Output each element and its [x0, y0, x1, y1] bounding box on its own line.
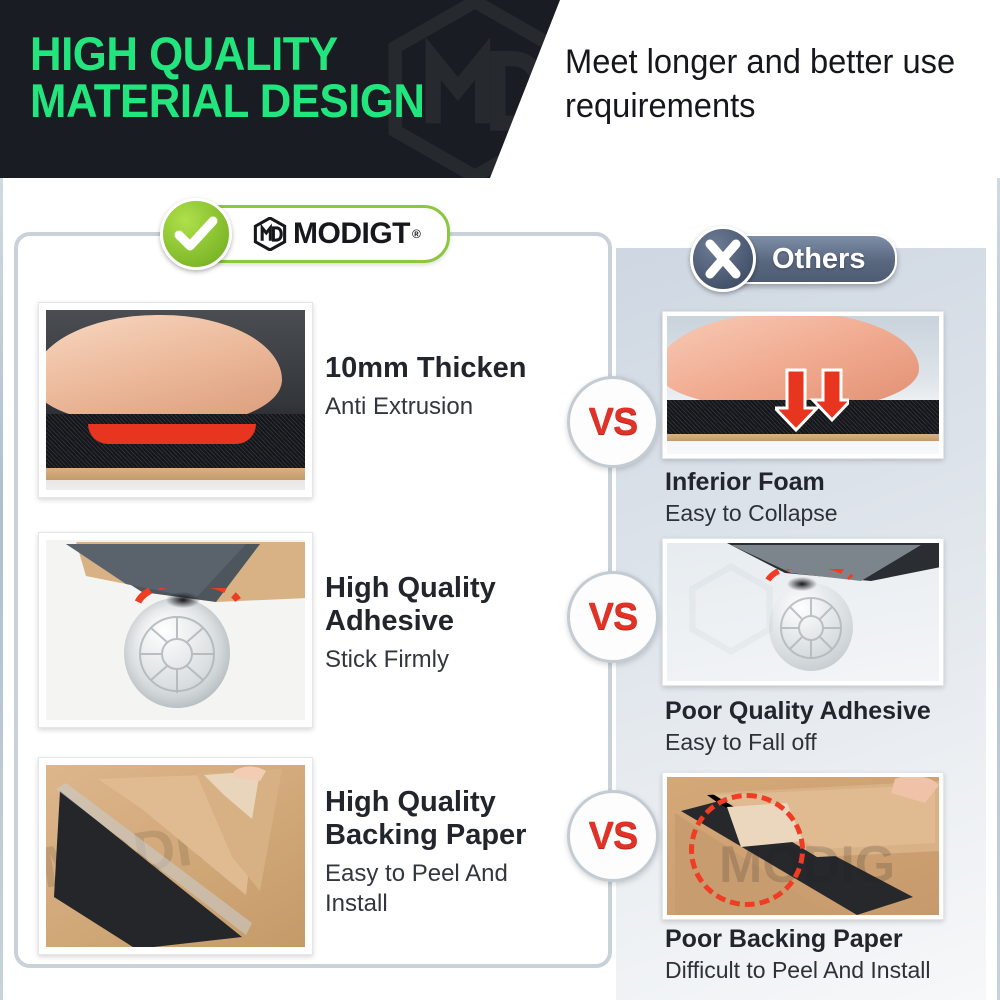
- photo-watermark-icon: [685, 563, 777, 655]
- good-feature-3-subtitle: Easy to Peel And Install: [325, 859, 575, 919]
- page-title: HIGH QUALITY MATERIAL DESIGN: [30, 30, 467, 124]
- good-photo-1: [38, 302, 313, 498]
- others-label: Others: [772, 245, 865, 274]
- good-feature-3-text: High Quality Backing Paper Easy to Peel …: [325, 786, 575, 919]
- bad-feature-3-subtitle: Difficult to Peel And Install: [665, 956, 995, 984]
- good-feature-2-subtitle: Stick Firmly: [325, 645, 565, 675]
- md-hexagon-logo-icon: [253, 217, 287, 251]
- vs-badge-3: VS: [567, 790, 659, 882]
- bad-feature-2-text: Poor Quality Adhesive Easy to Fall off: [665, 697, 985, 756]
- good-photo-3: MODIGT: [38, 757, 313, 955]
- good-feature-3-title: High Quality Backing Paper: [325, 786, 575, 852]
- vs-label-2: VS: [589, 596, 638, 639]
- bad-photo-3: MODIG: [662, 772, 944, 920]
- vs-badge-1: VS: [567, 376, 659, 468]
- vs-label-3: VS: [589, 815, 638, 858]
- vs-label-1: VS: [589, 401, 638, 444]
- good-photo-2: [38, 532, 313, 728]
- infographic-page: HIGH QUALITY MATERIAL DESIGN Meet longer…: [0, 0, 1000, 1000]
- header-banner: HIGH QUALITY MATERIAL DESIGN Meet longer…: [0, 0, 1000, 178]
- bad-photo-1: [662, 311, 944, 459]
- good-feature-2-text: High Quality Adhesive Stick Firmly: [325, 572, 565, 675]
- vs-badge-2: VS: [567, 571, 659, 663]
- trademark-symbol: ®: [412, 227, 421, 241]
- check-icon: [160, 198, 232, 270]
- good-feature-1-title: 10mm Thicken: [325, 352, 565, 385]
- defect-highlight-circle: [689, 793, 805, 907]
- bad-feature-1-text: Inferior Foam Easy to Collapse: [665, 468, 975, 527]
- left-edge-rule: [0, 178, 3, 1000]
- bad-feature-3-title: Poor Backing Paper: [665, 925, 995, 953]
- brand-name: MODIGT: [293, 219, 410, 249]
- good-feature-1-subtitle: Anti Extrusion: [325, 392, 565, 422]
- brand-badge: MODIGT ®: [160, 198, 450, 270]
- bad-photo-2: [662, 538, 944, 686]
- bad-feature-1-title: Inferior Foam: [665, 468, 975, 496]
- others-badge: Others: [690, 226, 897, 292]
- good-feature-2-title: High Quality Adhesive: [325, 572, 565, 638]
- good-feature-1-text: 10mm Thicken Anti Extrusion: [325, 352, 565, 422]
- bad-feature-1-subtitle: Easy to Collapse: [665, 499, 975, 527]
- x-icon: [690, 226, 756, 292]
- pressure-arrows-icon: [775, 368, 849, 432]
- header-subtitle: Meet longer and better use requirements: [565, 40, 959, 128]
- bad-feature-2-subtitle: Easy to Fall off: [665, 728, 985, 756]
- bad-feature-2-title: Poor Quality Adhesive: [665, 697, 985, 725]
- bad-feature-3-text: Poor Backing Paper Difficult to Peel And…: [665, 925, 995, 984]
